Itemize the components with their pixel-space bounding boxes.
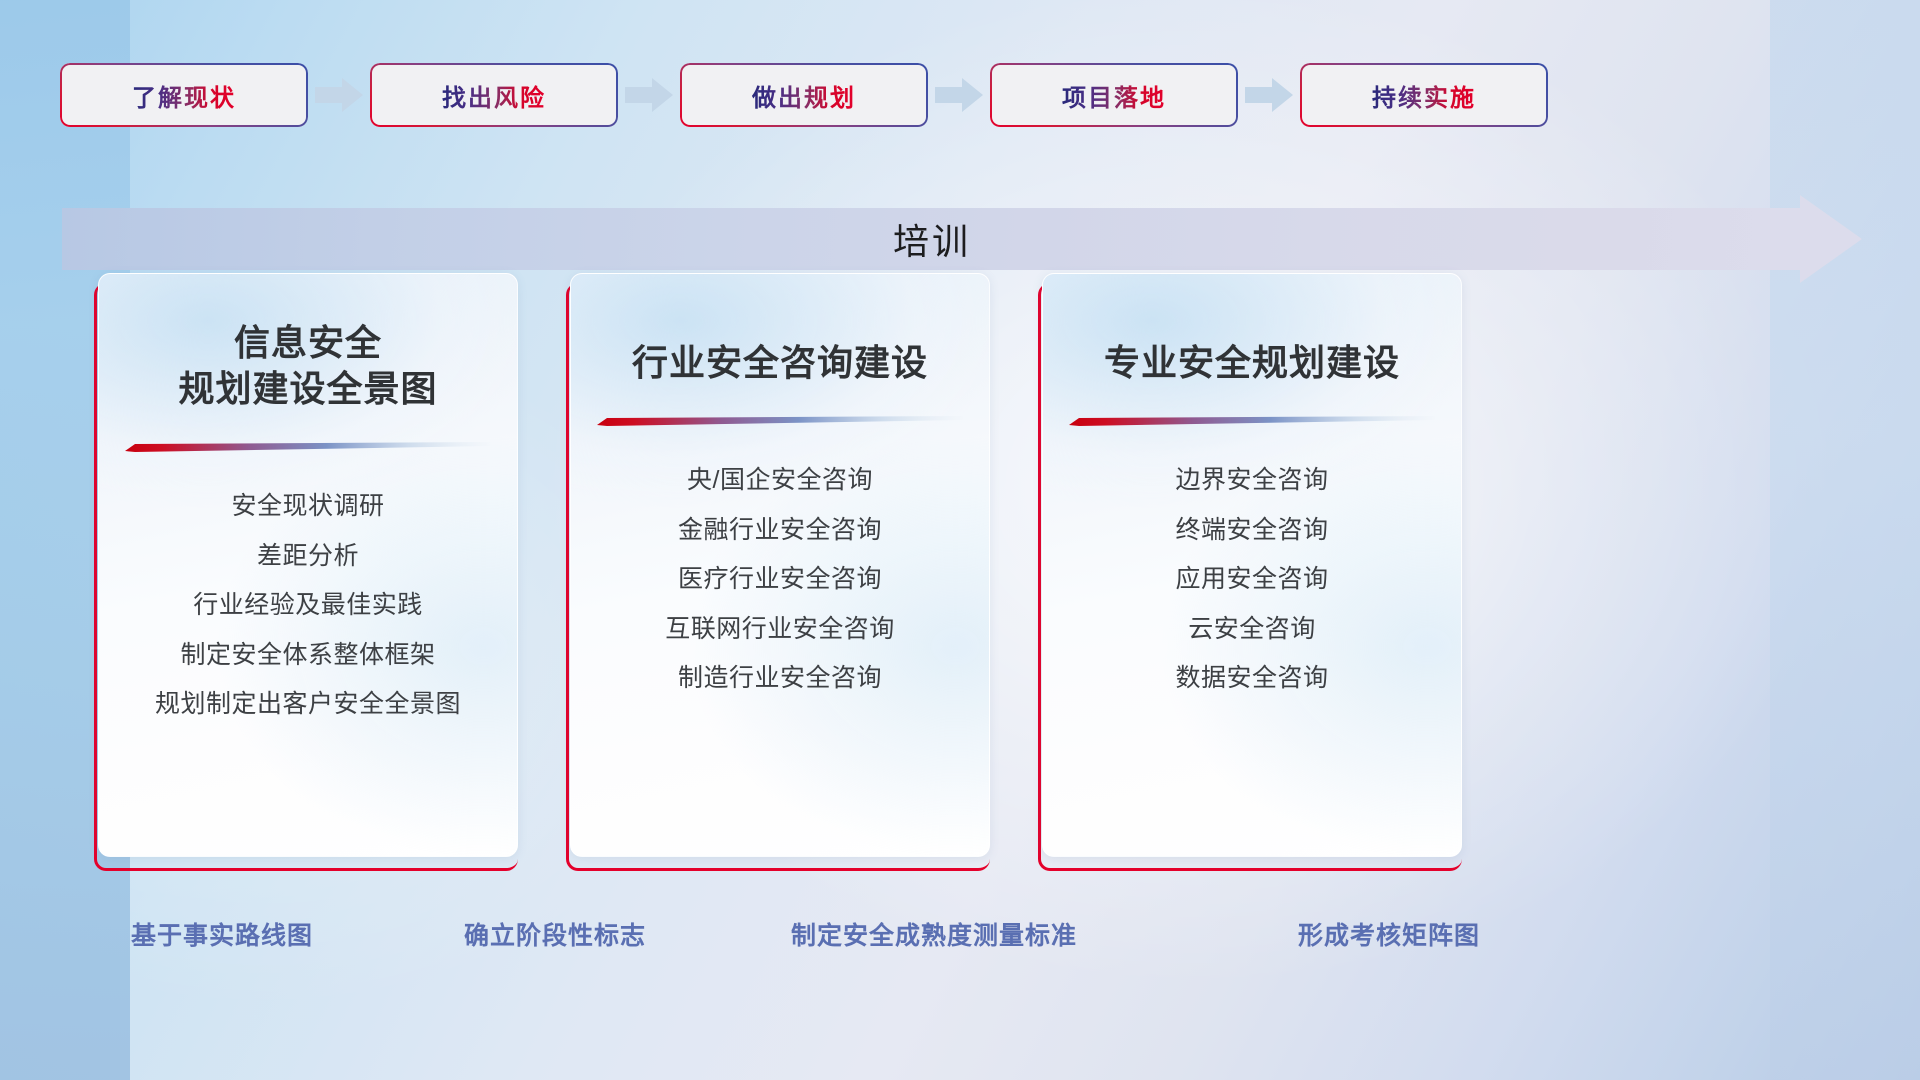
- card-2-divider: [1069, 416, 1435, 426]
- step-label-4: 持续实施: [1372, 78, 1476, 113]
- process-step-flow: 了解现状 找出风险 做出规划 项目落地 持续实施: [60, 62, 1870, 128]
- list-item: 制造行业安全咨询: [678, 660, 882, 698]
- card-0-title-line-1: 规划建设全景图: [178, 366, 437, 412]
- step-box-3[interactable]: 项目落地: [990, 63, 1238, 127]
- step-box-4[interactable]: 持续实施: [1300, 63, 1548, 127]
- step-box-1[interactable]: 找出风险: [370, 63, 618, 127]
- list-item: 数据安全咨询: [1175, 660, 1328, 698]
- gradient-divider-icon: [125, 442, 491, 452]
- step-arrow-0: [308, 75, 370, 115]
- list-item: 安全现状调研: [231, 488, 384, 526]
- list-item: 金融行业安全咨询: [678, 512, 882, 550]
- step-arrow-1: [618, 75, 680, 115]
- footer-label-2: 制定安全成熟度测量标准: [791, 916, 1077, 952]
- list-item: 云安全咨询: [1188, 611, 1316, 649]
- training-band-arrowhead-icon: [1800, 195, 1862, 283]
- card-1-body: 行业安全咨询建设: [570, 273, 990, 857]
- step-arrow-2: [928, 75, 990, 115]
- step-arrow-3: [1238, 75, 1300, 115]
- card-1[interactable]: 行业安全咨询建设: [566, 273, 990, 871]
- footer-label-group: 基于事实路线图 确立阶段性标志 制定安全成熟度测量标准 形成考核矩阵图: [0, 916, 1920, 962]
- card-1-divider: [597, 416, 963, 426]
- step-label-1: 找出风险: [442, 78, 546, 113]
- footer-label-0: 基于事实路线图: [131, 916, 313, 952]
- arrow-right-icon: [935, 78, 983, 112]
- step-label-2: 做出规划: [752, 78, 856, 113]
- card-group: 信息安全 规划建设全景图: [94, 273, 1836, 873]
- gradient-divider-icon: [1069, 416, 1435, 426]
- list-item: 差距分析: [257, 538, 359, 576]
- step-box-0[interactable]: 了解现状: [60, 63, 308, 127]
- card-2[interactable]: 专业安全规划建设: [1038, 273, 1462, 871]
- footer-label-1: 确立阶段性标志: [464, 916, 646, 952]
- training-band-title: 培训: [62, 208, 1802, 270]
- card-1-title-line-0: 行业安全咨询建设: [632, 340, 928, 386]
- card-0-body: 信息安全 规划建设全景图: [98, 273, 518, 857]
- card-2-body: 专业安全规划建设: [1042, 273, 1462, 857]
- list-item: 终端安全咨询: [1175, 512, 1328, 550]
- list-item: 央/国企安全咨询: [687, 462, 873, 500]
- list-item: 互联网行业安全咨询: [665, 611, 895, 649]
- card-1-list: 央/国企安全咨询 金融行业安全咨询 医疗行业安全咨询 互联网行业安全咨询 制造行…: [571, 462, 989, 698]
- list-item: 应用安全咨询: [1175, 561, 1328, 599]
- card-0-divider: [125, 442, 491, 452]
- arrow-right-icon: [1245, 78, 1293, 112]
- list-item: 规划制定出客户安全全景图: [155, 686, 461, 724]
- list-item: 医疗行业安全咨询: [678, 561, 882, 599]
- list-item: 制定安全体系整体框架: [180, 637, 435, 675]
- list-item: 边界安全咨询: [1175, 462, 1328, 500]
- card-1-title: 行业安全咨询建设: [632, 340, 928, 386]
- card-0-list: 安全现状调研 差距分析 行业经验及最佳实践 制定安全体系整体框架 规划制定出客户…: [99, 488, 517, 724]
- list-item: 行业经验及最佳实践: [193, 587, 423, 625]
- card-0-title-line-0: 信息安全: [178, 320, 437, 366]
- card-2-list: 边界安全咨询 终端安全咨询 应用安全咨询 云安全咨询 数据安全咨询: [1043, 462, 1461, 698]
- step-box-2[interactable]: 做出规划: [680, 63, 928, 127]
- arrow-right-icon: [625, 78, 673, 112]
- card-0[interactable]: 信息安全 规划建设全景图: [94, 273, 518, 871]
- arrow-right-icon: [315, 78, 363, 112]
- card-2-title-line-0: 专业安全规划建设: [1104, 340, 1400, 386]
- gradient-divider-icon: [597, 416, 963, 426]
- footer-label-3: 形成考核矩阵图: [1298, 916, 1480, 952]
- card-2-title: 专业安全规划建设: [1104, 340, 1400, 386]
- step-label-0: 了解现状: [132, 78, 236, 113]
- step-label-3: 项目落地: [1062, 78, 1166, 113]
- card-0-title: 信息安全 规划建设全景图: [178, 320, 437, 412]
- training-band: 培训: [62, 208, 1862, 270]
